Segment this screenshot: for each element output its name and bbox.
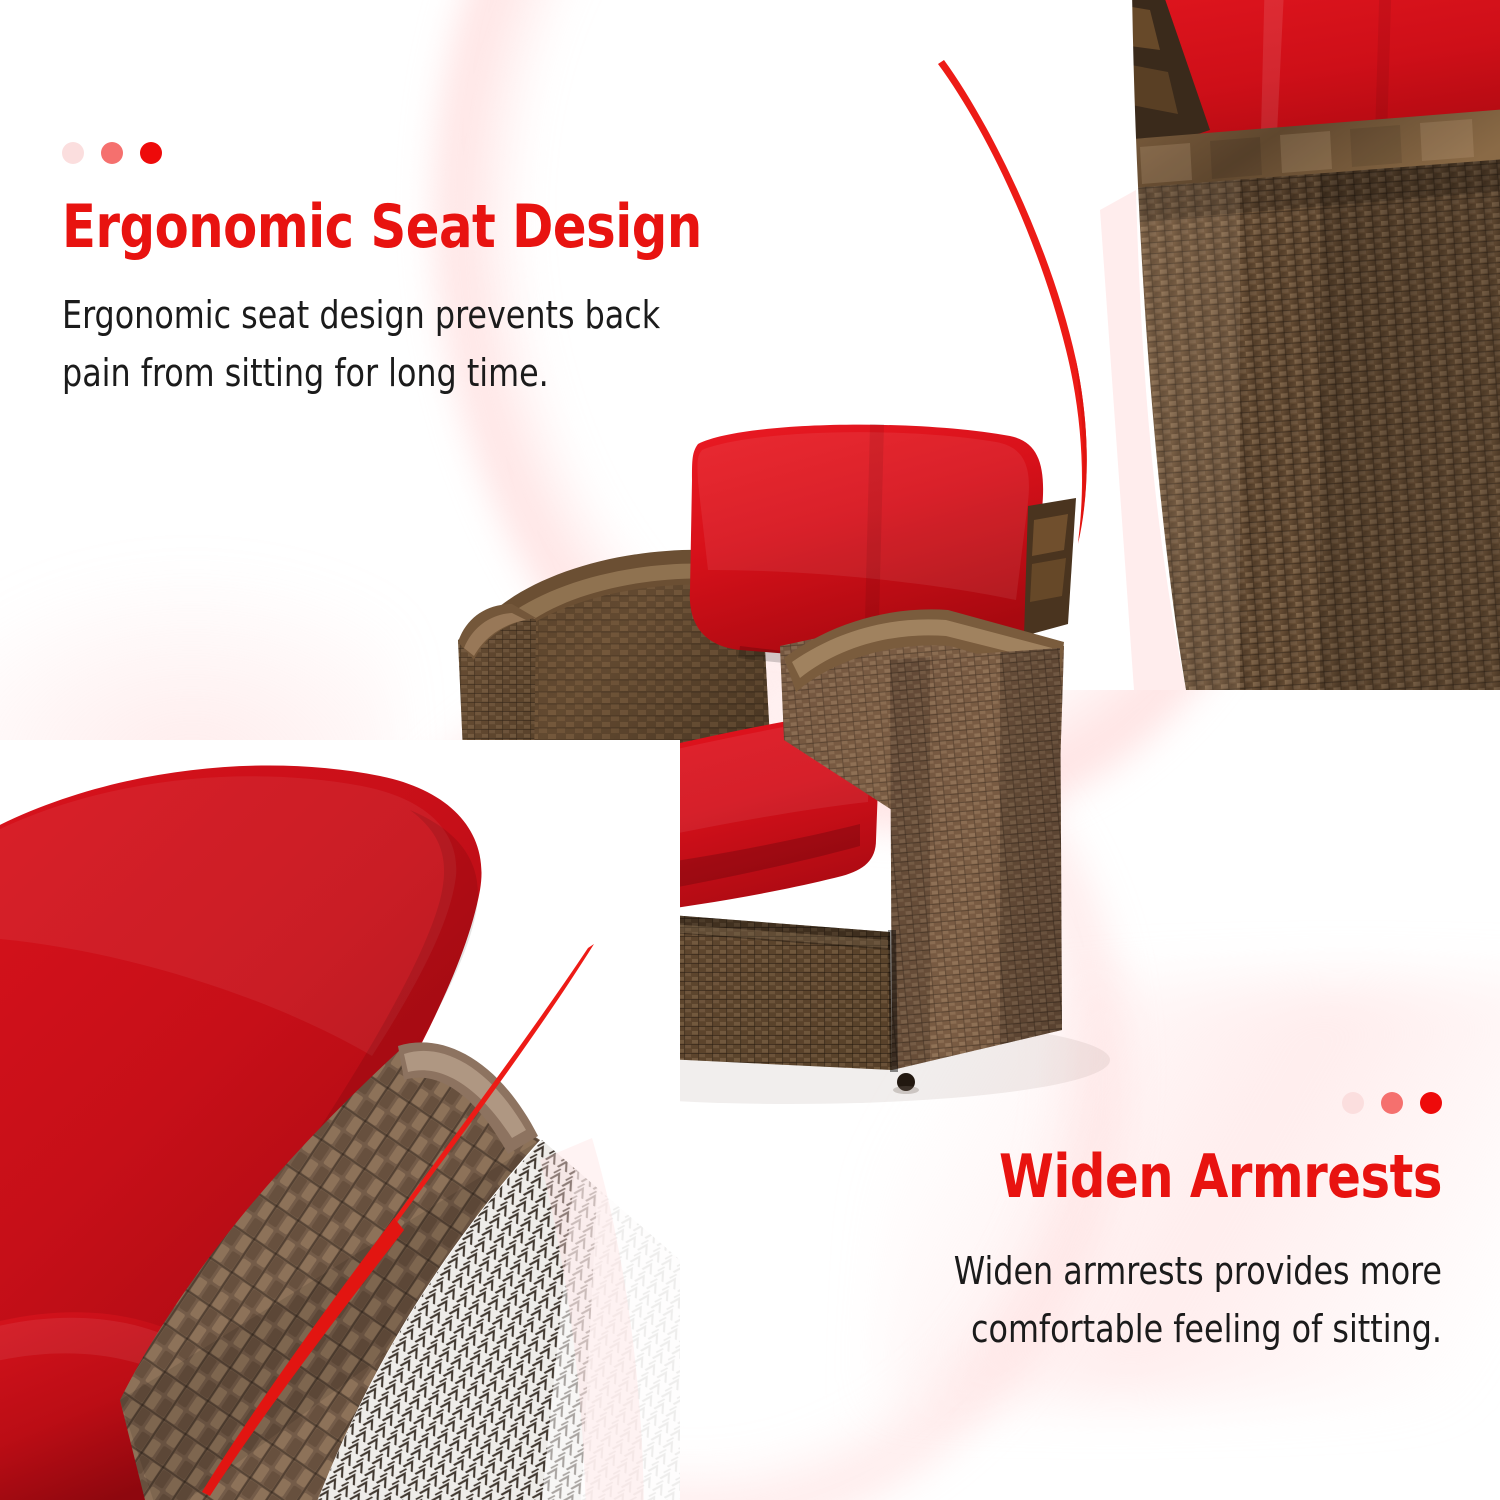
- photo-top-right-armrest-closeup: [1060, 0, 1500, 690]
- dot-indicator-group-top-left: [62, 140, 762, 166]
- photo-bottom-left-cushion-closeup: [0, 740, 680, 1500]
- armrest-closeup-svg: [1060, 0, 1500, 690]
- cushion-closeup-svg: [0, 740, 680, 1500]
- dot-medium-icon: [101, 142, 123, 164]
- dot-solid-icon: [1420, 1092, 1442, 1114]
- feature-block-ergonomic-seat-design: Ergonomic Seat Design Ergonomic seat des…: [62, 140, 762, 403]
- feature-block-widen-armrests: Widen Armrests Widen armrests provides m…: [822, 1090, 1442, 1359]
- dot-indicator-group-bottom-right: [822, 1090, 1442, 1116]
- feature-body-widen-armrests: Widen armrests provides more comfortable…: [865, 1243, 1442, 1359]
- feature-body-ergonomic-seat-design: Ergonomic seat design prevents back pain…: [62, 287, 713, 403]
- feature-title-ergonomic-seat-design: Ergonomic Seat Design: [62, 196, 706, 259]
- dot-light-icon: [62, 142, 84, 164]
- feature-title-widen-armrests: Widen Armrests: [872, 1146, 1442, 1209]
- dot-solid-icon: [140, 142, 162, 164]
- dot-light-icon: [1342, 1092, 1364, 1114]
- marketing-image-canvas: Ergonomic Seat Design Ergonomic seat des…: [0, 0, 1500, 1500]
- dot-medium-icon: [1381, 1092, 1403, 1114]
